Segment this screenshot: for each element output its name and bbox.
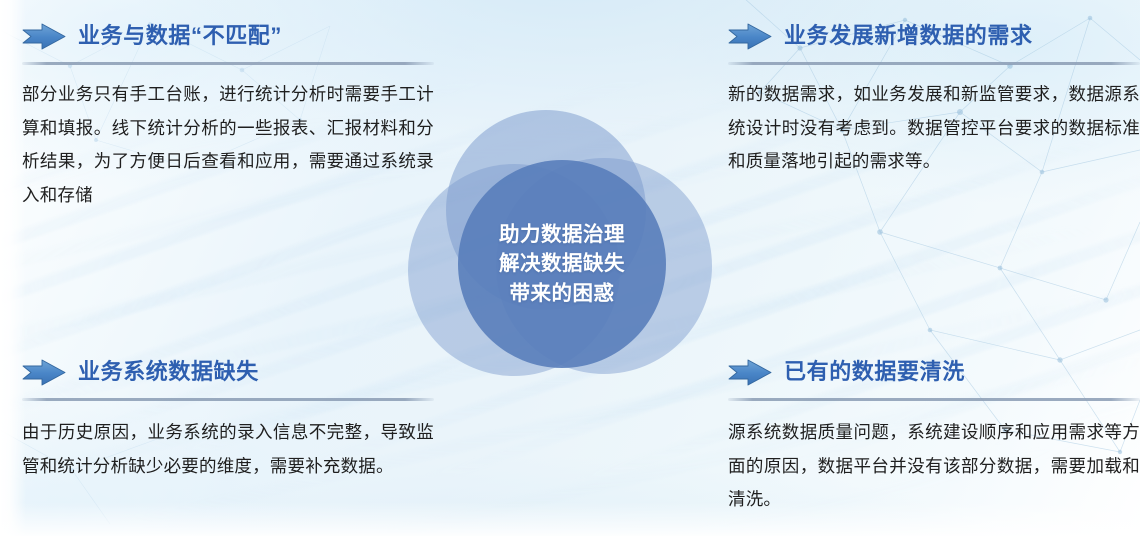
panel-divider [728,62,1140,65]
venn-core-circle: 助力数据治理 解决数据缺失 带来的困惑 [458,160,666,368]
panel-existing-data-cleansing: 已有的数据要清洗 源系统数据质量问题，系统建设顺序和应用需求等方面的原因，数据平… [728,352,1140,517]
center-statement-text: 助力数据治理 解决数据缺失 带来的困惑 [499,220,625,307]
panel-divider [22,398,434,401]
center-venn-graphic: 助力数据治理 解决数据缺失 带来的困惑 [400,108,740,408]
panel-divider [22,62,434,65]
panel-header: 业务系统数据缺失 [22,352,434,392]
arrow-right-icon [728,359,772,386]
panel-body-text: 部分业务只有手工台账，进行统计分析时需要手工计算和填报。线下统计分析的一些报表、… [22,78,434,212]
arrow-right-icon [728,23,772,50]
panel-title: 业务系统数据缺失 [78,361,259,383]
panel-title: 已有的数据要清洗 [784,361,965,383]
panel-body-text: 新的数据需求，如业务发展和新监管要求，数据源系统设计时没有考虑到。数据管控平台要… [728,78,1140,179]
panel-business-data-mismatch: 业务与数据“不匹配” 部分业务只有手工台账，进行统计分析时需要手工计算和填报。线… [22,16,434,212]
panel-body-text: 由于历史原因，业务系统的录入信息不完整，导致监管和统计分析缺少必要的维度，需要补… [22,416,434,483]
slide-canvas: 助力数据治理 解决数据缺失 带来的困惑 业务与数据“不匹配” 部分业务只有手工台… [0,0,1140,536]
panel-header: 业务发展新增数据的需求 [728,16,1140,56]
panel-business-system-data-missing: 业务系统数据缺失 由于历史原因，业务系统的录入信息不完整，导致监管和统计分析缺少… [22,352,434,483]
panel-divider [728,398,1140,401]
panel-title: 业务与数据“不匹配” [78,25,282,47]
panel-new-data-demand: 业务发展新增数据的需求 新的数据需求，如业务发展和新监管要求，数据源系统设计时没… [728,16,1140,179]
arrow-right-icon [22,359,66,386]
arrow-right-icon [22,23,66,50]
panel-header: 业务与数据“不匹配” [22,16,434,56]
panel-header: 已有的数据要清洗 [728,352,1140,392]
panel-title: 业务发展新增数据的需求 [784,25,1033,47]
panel-body-text: 源系统数据质量问题，系统建设顺序和应用需求等方面的原因，数据平台并没有该部分数据… [728,416,1140,517]
